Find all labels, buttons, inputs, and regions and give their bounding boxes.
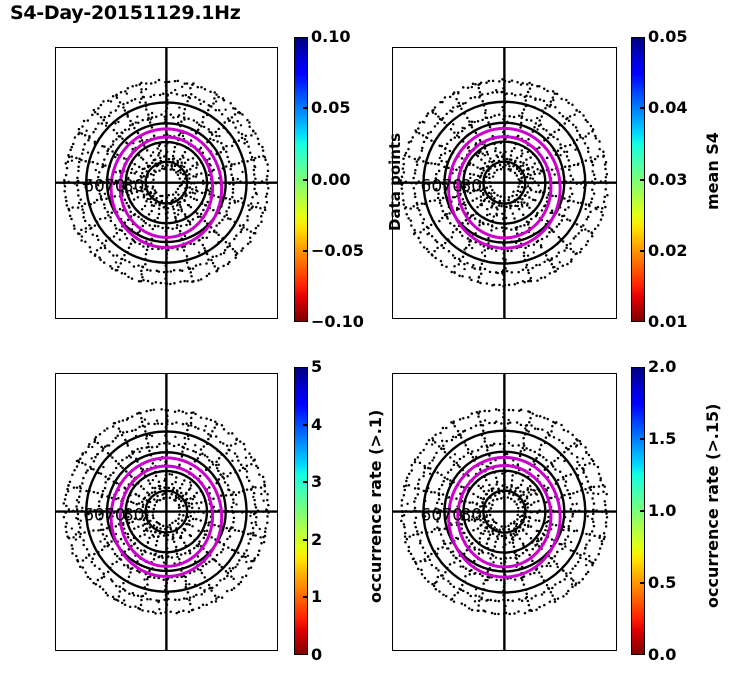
colorbar-tick-label: 0 [311, 647, 322, 663]
polar-plot-panel-1: 607080 [55, 47, 278, 319]
colorbar-tickmark [640, 107, 645, 109]
colorbar-label: occurrence rate (>.1) [366, 410, 385, 603]
colorbar-tick-label: 0.04 [648, 100, 687, 116]
colorbar-tick-label: 0.5 [648, 575, 676, 591]
colorbar-tick-label: 0.05 [311, 100, 350, 116]
colorbar-tickmark [303, 107, 308, 109]
colorbar-tick-label: 0.03 [648, 172, 687, 188]
latitude-tick-label: 80 [460, 177, 482, 197]
colorbar-tick-label: 0.02 [648, 243, 687, 259]
colorbar-label: mean S4 [703, 132, 722, 210]
latitude-tick-label: 80 [123, 506, 145, 526]
colorbar-tick-label: 1.5 [648, 431, 676, 447]
colorbar-tick-label: 0.05 [648, 29, 687, 45]
colorbar-tick-label: 0.01 [648, 314, 687, 330]
colorbar-tick-label: 0.0 [648, 647, 676, 663]
colorbar-tickmark [640, 179, 645, 181]
colorbar-tickmark [303, 539, 308, 541]
colorbar-label: occurrence rate (>.15) [703, 403, 722, 607]
colorbar-tick-label: 1.0 [648, 503, 676, 519]
colorbar-tickmark [303, 596, 308, 598]
colorbar-tick-label: −0.05 [311, 243, 364, 259]
colorbar-tick-label: 1 [311, 589, 322, 605]
colorbar-tick-label: 0.10 [311, 29, 350, 45]
colorbar-tickmark [303, 250, 308, 252]
latitude-tick-label: 60 [83, 506, 105, 526]
figure-canvas: S4-Day-20151129.1Hz 607080607080Data poi… [0, 0, 731, 674]
colorbar-tick-label: 3 [311, 474, 322, 490]
colorbar-tickmark [303, 424, 308, 426]
colorbar-tickmark [640, 582, 645, 584]
latitude-tick-label: 80 [123, 177, 145, 197]
colorbar-tick-label: 2.0 [648, 359, 676, 375]
colorbar-tickmark [640, 510, 645, 512]
latitude-tick-label: 60 [421, 506, 443, 526]
page-title: S4-Day-20151129.1Hz [10, 2, 241, 24]
colorbar-tickmark [303, 481, 308, 483]
latitude-tick-label: 60 [83, 177, 105, 197]
colorbar-tickmark [303, 179, 308, 181]
latitude-tick-label: 60 [421, 177, 443, 197]
polar-plot-panel-3: 607080 [55, 373, 278, 651]
y-axis-label: Data points [386, 133, 404, 231]
colorbar-panel-3 [294, 367, 308, 655]
polar-plot-panel-2: 607080 [392, 47, 617, 319]
polar-plot-panel-4: 607080 [392, 373, 617, 651]
colorbar-tick-label: 5 [311, 359, 322, 375]
colorbar-tick-label: 2 [311, 532, 322, 548]
colorbar-tick-label: 4 [311, 417, 322, 433]
colorbar-tickmark [640, 250, 645, 252]
colorbar-tick-label: 0.00 [311, 172, 350, 188]
colorbar-tickmark [640, 438, 645, 440]
colorbar-tick-label: −0.10 [311, 314, 364, 330]
latitude-tick-label: 80 [460, 506, 482, 526]
